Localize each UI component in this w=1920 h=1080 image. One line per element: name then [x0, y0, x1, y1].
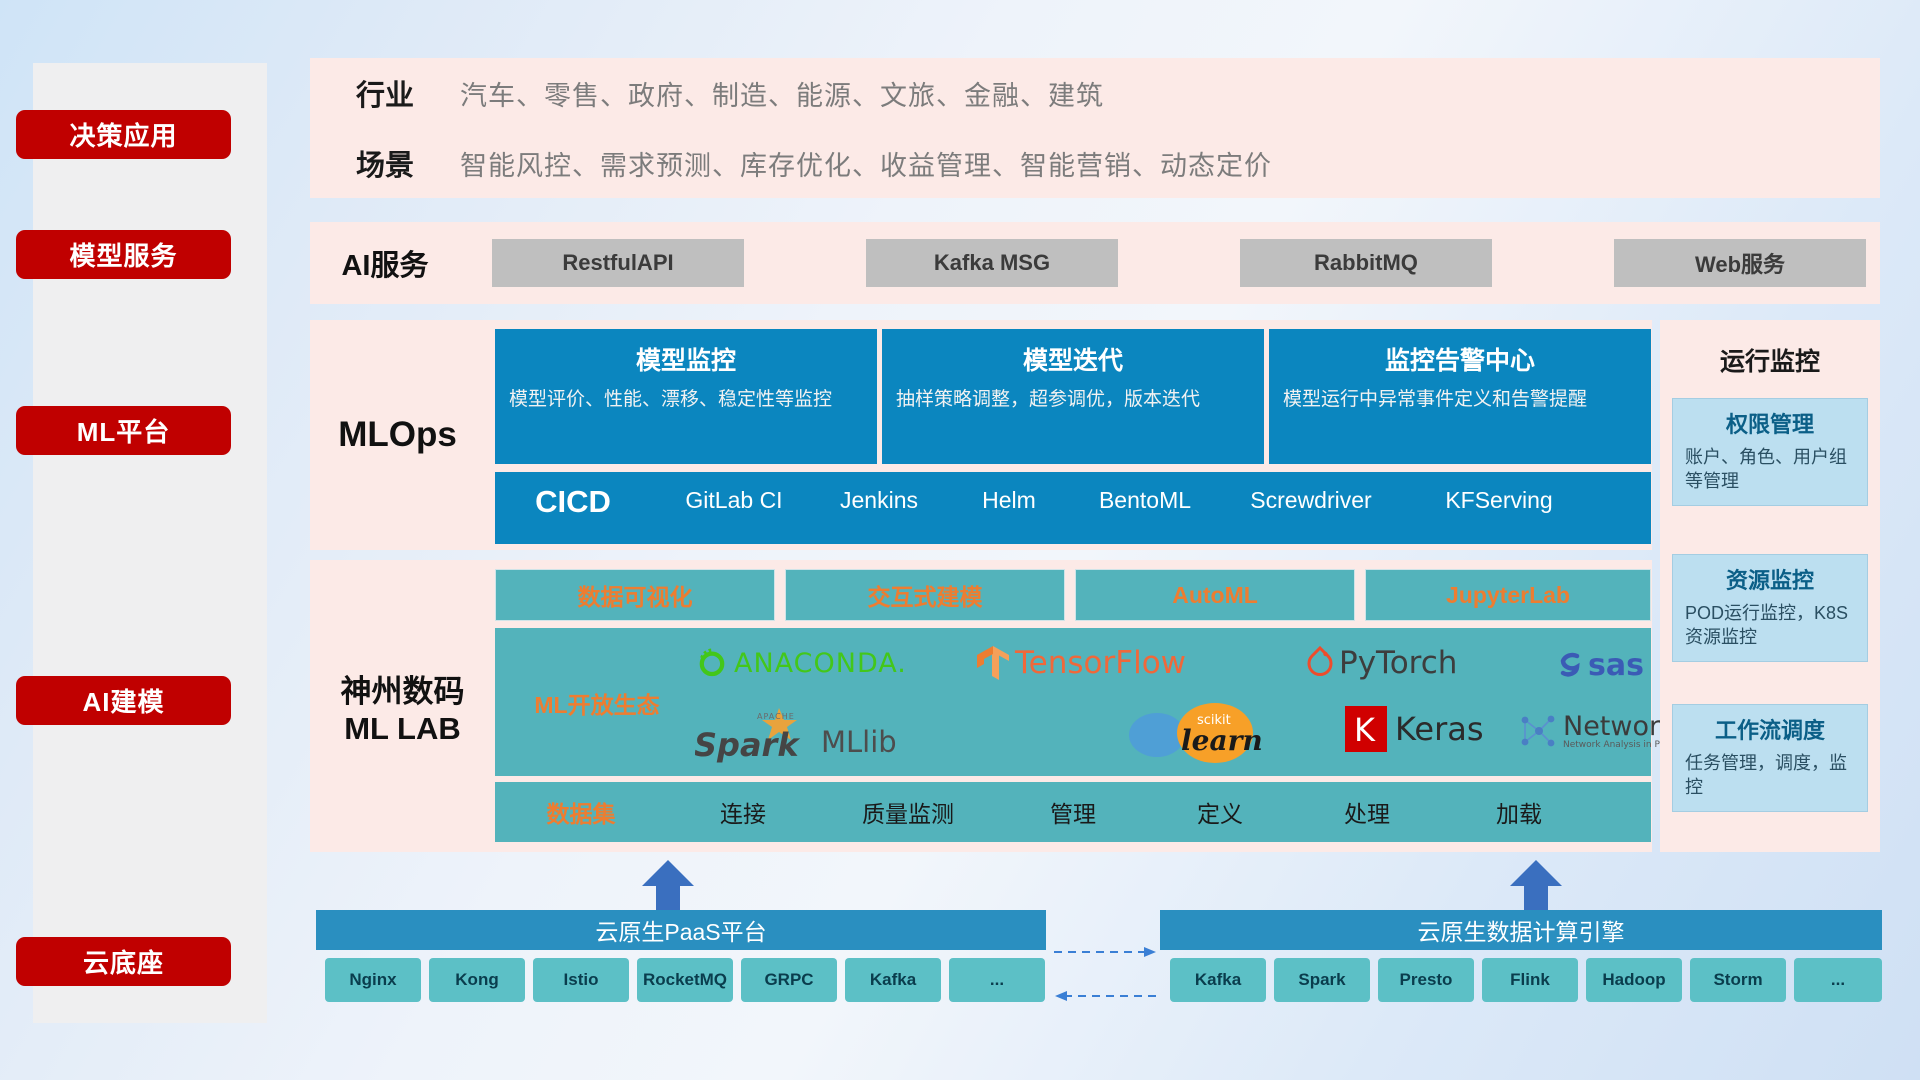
card-desc: POD运行监控，K8S资源监控: [1685, 601, 1855, 650]
card-desc: 模型评价、性能、漂移、稳定性等监控: [509, 387, 863, 413]
mlops-card-model-monitoring[interactable]: 模型监控 模型评价、性能、漂移、稳定性等监控: [495, 329, 877, 464]
dataset-item-define[interactable]: 定义: [1149, 795, 1291, 829]
modeling-chip-jupyterlab[interactable]: JupyterLab: [1365, 569, 1651, 621]
chip-label: Kafka: [1195, 971, 1241, 989]
modeling-chip-data-visualization[interactable]: 数据可视化: [495, 569, 775, 621]
chip-label: RabbitMQ: [1314, 250, 1418, 276]
ai-service-chip-kafka-msg[interactable]: Kafka MSG: [866, 239, 1118, 287]
layer-pill-cloud-base[interactable]: 云底座: [16, 937, 231, 986]
dataset-item-quality[interactable]: 质量监测: [819, 795, 997, 829]
chip-label: Kong: [455, 971, 498, 989]
chip-label: Kafka: [870, 971, 916, 989]
paas-platform-bar: 云原生PaaS平台: [316, 910, 1046, 950]
paas-chip-istio[interactable]: Istio: [533, 958, 629, 1002]
chip-label: Istio: [564, 971, 599, 989]
chip-label: ...: [1831, 971, 1845, 989]
layer-pill-ai-modeling[interactable]: AI建模: [16, 676, 231, 725]
mlops-label: MLOps: [310, 320, 485, 550]
card-title: 权限管理: [1685, 407, 1855, 439]
ml-lab-label: 神州数码 ML LAB: [310, 560, 495, 852]
ai-modeling-band: 神州数码 ML LAB 数据可视化 交互式建模 AutoML JupyterLa…: [310, 560, 1652, 852]
svg-text:APACHE: APACHE: [757, 712, 795, 721]
card-title: 模型监控: [509, 341, 863, 377]
cicd-item-gitlab-ci[interactable]: GitLab CI: [651, 472, 817, 513]
cicd-item-kfserving[interactable]: KFServing: [1409, 472, 1589, 513]
layer-pill-label: ML平台: [77, 412, 171, 449]
engine-chip-presto[interactable]: Presto: [1378, 958, 1474, 1002]
data-engine-title: 云原生数据计算引擎: [1418, 913, 1625, 947]
paas-chip-kong[interactable]: Kong: [429, 958, 525, 1002]
paas-chip-nginx[interactable]: Nginx: [325, 958, 421, 1002]
model-service-band: AI服务 RestfulAPI Kafka MSG RabbitMQ Web服务: [310, 222, 1880, 304]
ml-lab-label-line1: 神州数码: [341, 666, 465, 711]
spark-mllib-logo: APACHE Spark MLlib: [695, 706, 897, 764]
cicd-bar: CICD GitLab CI Jenkins Helm BentoML Scre…: [495, 472, 1651, 544]
chip-label: RestfulAPI: [562, 250, 673, 276]
chip-label: Hadoop: [1602, 971, 1665, 989]
engine-chip-kafka[interactable]: Kafka: [1170, 958, 1266, 1002]
anaconda-logo: ANACONDA.: [695, 646, 907, 680]
engine-chip-spark[interactable]: Spark: [1274, 958, 1370, 1002]
monitoring-card-resource[interactable]: 资源监控 POD运行监控，K8S资源监控: [1672, 554, 1868, 662]
pytorch-logo: PyTorch: [1305, 645, 1457, 681]
scenario-value: 智能风控、需求预测、库存优化、收益管理、智能营销、动态定价: [460, 144, 1272, 183]
card-desc: 抽样策略调整，超参调优，版本迭代: [896, 387, 1250, 413]
bidirectional-dashed-arrows-icon: [1052, 940, 1160, 1010]
monitoring-card-permission[interactable]: 权限管理 账户、角色、用户组等管理: [1672, 398, 1868, 506]
industry-row: 行业 汽车、零售、政府、制造、能源、文旅、金融、建筑: [310, 58, 1880, 128]
card-title: 工作流调度: [1685, 713, 1855, 745]
arrow-up-paas-icon: [640, 860, 696, 910]
layer-pill-ml-platform[interactable]: ML平台: [16, 406, 231, 455]
cicd-item-jenkins[interactable]: Jenkins: [817, 472, 941, 513]
cicd-title: CICD: [495, 472, 651, 520]
svg-text:learn: learn: [1181, 724, 1263, 757]
mlops-card-alert-center[interactable]: 监控告警中心 模型运行中异常事件定义和告警提醒: [1269, 329, 1651, 464]
engine-chip-hadoop[interactable]: Hadoop: [1586, 958, 1682, 1002]
decision-application-band: 行业 汽车、零售、政府、制造、能源、文旅、金融、建筑 场景 智能风控、需求预测、…: [310, 58, 1880, 198]
dataset-item-manage[interactable]: 管理: [997, 795, 1149, 829]
chip-label: AutoML: [1172, 582, 1258, 609]
dataset-label: 数据集: [495, 795, 667, 829]
card-desc: 账户、角色、用户组等管理: [1685, 445, 1855, 494]
dataset-bar: 数据集 连接 质量监测 管理 定义 处理 加载: [495, 782, 1651, 842]
ml-ecosystem-label: ML开放生态: [517, 686, 677, 720]
keras-logo: K Keras: [1345, 706, 1484, 752]
paas-platform-title: 云原生PaaS平台: [595, 913, 766, 947]
ai-service-chip-restfulapi[interactable]: RestfulAPI: [492, 239, 744, 287]
scenario-key: 场景: [310, 142, 460, 184]
cicd-item-helm[interactable]: Helm: [941, 472, 1077, 513]
chip-label: JupyterLab: [1446, 582, 1570, 609]
paas-chip-grpc[interactable]: GRPC: [741, 958, 837, 1002]
ai-service-chip-web-service[interactable]: Web服务: [1614, 239, 1866, 287]
ml-lab-label-line2: ML LAB: [344, 711, 461, 747]
card-desc: 任务管理，调度，监控: [1685, 751, 1855, 800]
chip-label: ...: [990, 971, 1004, 989]
cicd-item-bentoml[interactable]: BentoML: [1077, 472, 1213, 513]
paas-chip-kafka[interactable]: Kafka: [845, 958, 941, 1002]
chip-label: Presto: [1400, 971, 1453, 989]
chip-label: Web服务: [1695, 247, 1785, 279]
mlops-band: MLOps 模型监控 模型评价、性能、漂移、稳定性等监控 模型迭代 抽样策略调整…: [310, 320, 1652, 550]
chip-label: RocketMQ: [643, 971, 727, 989]
chip-label: Nginx: [349, 971, 396, 989]
runtime-monitoring-panel: 运行监控 权限管理 账户、角色、用户组等管理 资源监控 POD运行监控，K8S资…: [1660, 320, 1880, 852]
monitoring-card-workflow[interactable]: 工作流调度 任务管理，调度，监控: [1672, 704, 1868, 812]
industry-value: 汽车、零售、政府、制造、能源、文旅、金融、建筑: [460, 74, 1104, 113]
engine-chip-flink[interactable]: Flink: [1482, 958, 1578, 1002]
svg-text:K: K: [1354, 711, 1376, 749]
tensorflow-logo: TensorFlow: [975, 644, 1186, 682]
scikit-learn-logo: scikit learn: [1123, 702, 1289, 764]
engine-chip-storm[interactable]: Storm: [1690, 958, 1786, 1002]
card-title: 模型迭代: [896, 341, 1250, 377]
ai-service-label: AI服务: [310, 222, 460, 304]
runtime-monitoring-title: 运行监控: [1660, 342, 1880, 378]
ml-ecosystem-panel: ML开放生态 ANACONDA. TensorFlow: [495, 628, 1651, 776]
cicd-item-screwdriver[interactable]: Screwdriver: [1213, 472, 1409, 513]
layer-pill-label: AI建模: [82, 682, 164, 719]
card-title: 资源监控: [1685, 563, 1855, 595]
mlops-card-model-iteration[interactable]: 模型迭代 抽样策略调整，超参调优，版本迭代: [882, 329, 1264, 464]
layer-pill-label: 云底座: [83, 943, 164, 980]
dataset-item-process[interactable]: 处理: [1291, 795, 1443, 829]
layer-pill-model-service[interactable]: 模型服务: [16, 230, 231, 279]
chip-label: Spark: [1298, 971, 1345, 989]
dataset-item-load[interactable]: 加载: [1443, 795, 1595, 829]
scenario-row: 场景 智能风控、需求预测、库存优化、收益管理、智能营销、动态定价: [310, 128, 1880, 198]
modeling-chip-interactive-modeling[interactable]: 交互式建模: [785, 569, 1065, 621]
arrow-up-engine-icon: [1508, 860, 1564, 910]
chip-label: Kafka MSG: [934, 250, 1050, 276]
dataset-item-connect[interactable]: 连接: [667, 795, 819, 829]
chip-label: 数据可视化: [578, 578, 693, 612]
chip-label: Flink: [1510, 971, 1550, 989]
industry-key: 行业: [310, 72, 460, 114]
layer-pill-label: 决策应用: [69, 116, 177, 153]
paas-chip-rocketmq[interactable]: RocketMQ: [637, 958, 733, 1002]
svg-text:Spark: Spark: [695, 726, 800, 764]
layer-pill-label: 模型服务: [69, 236, 177, 273]
paas-chip-more[interactable]: ...: [949, 958, 1045, 1002]
engine-chip-more[interactable]: ...: [1794, 958, 1882, 1002]
modeling-chip-automl[interactable]: AutoML: [1075, 569, 1355, 621]
chip-label: Storm: [1713, 971, 1762, 989]
sas-logo: sas: [1553, 648, 1644, 683]
layer-pill-decision[interactable]: 决策应用: [16, 110, 231, 159]
chip-label: GRPC: [764, 971, 813, 989]
ai-service-chip-rabbitmq[interactable]: RabbitMQ: [1240, 239, 1492, 287]
data-engine-bar: 云原生数据计算引擎: [1160, 910, 1882, 950]
card-desc: 模型运行中异常事件定义和告警提醒: [1283, 387, 1637, 413]
layer-rail: [33, 63, 267, 1023]
chip-label: 交互式建模: [868, 578, 983, 612]
card-title: 监控告警中心: [1283, 341, 1637, 377]
